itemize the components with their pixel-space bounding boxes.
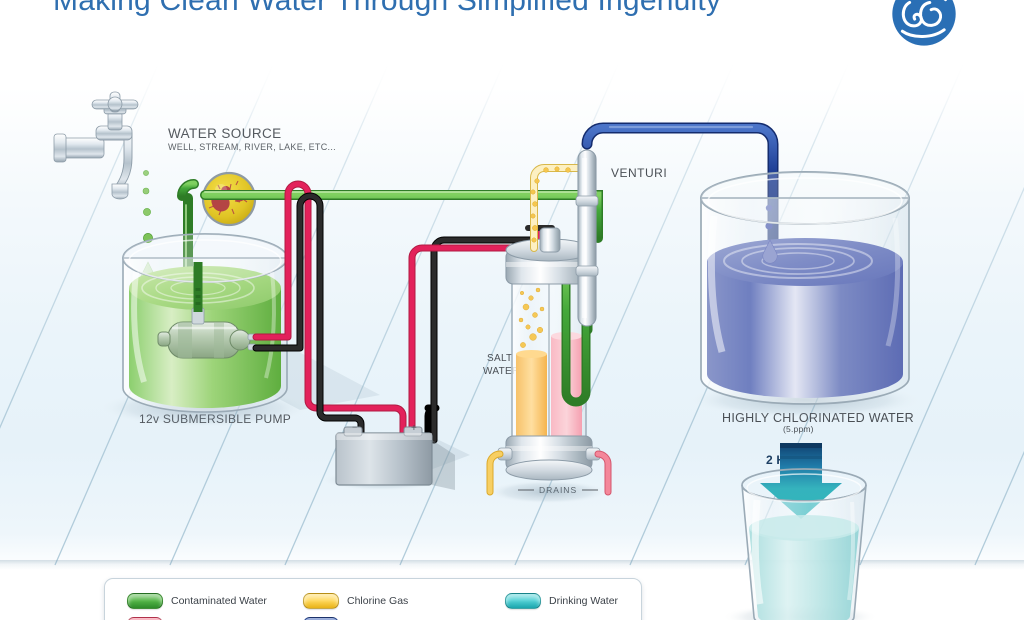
- svg-text:+: +: [411, 423, 417, 434]
- diagram-artwork: − +: [0, 0, 1024, 620]
- svg-text:−: −: [352, 422, 357, 432]
- venturi-injector: [576, 150, 598, 326]
- infographic-canvas: Making Clean Water Through Simplified In…: [0, 0, 1024, 620]
- contaminated-water-tank: [123, 234, 287, 412]
- chlorinated-water-tank: [701, 172, 909, 404]
